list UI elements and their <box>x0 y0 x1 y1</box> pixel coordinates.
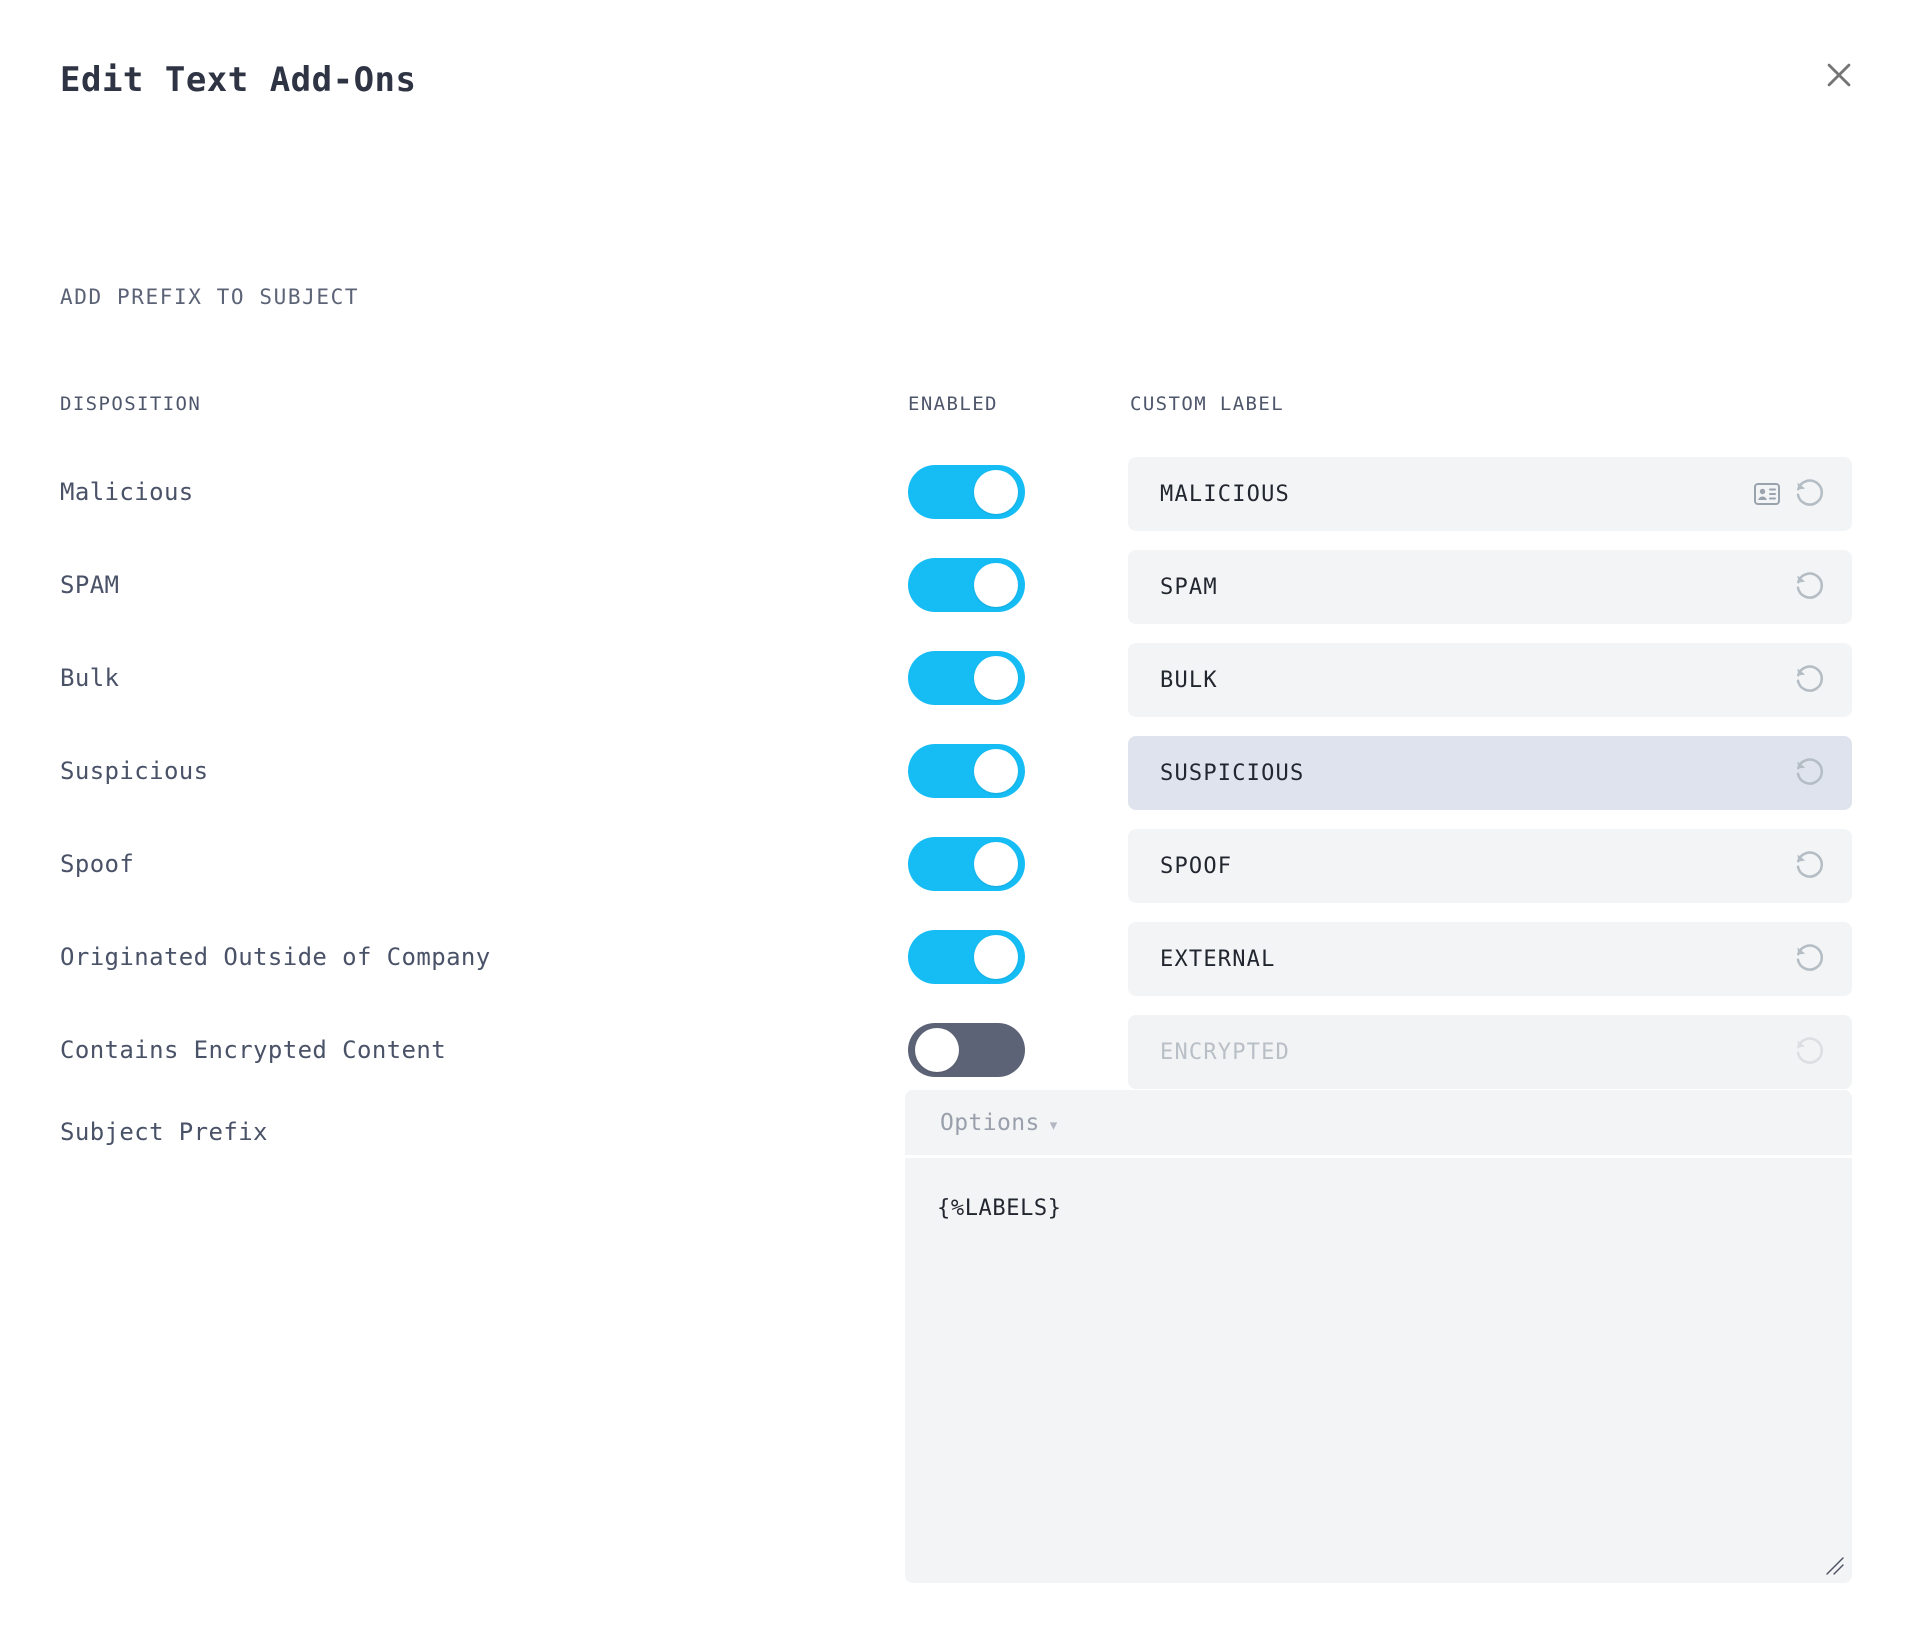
enabled-toggle[interactable] <box>908 1023 1025 1077</box>
subject-prefix-editor: Options ▾ {%LABELS} <box>905 1090 1852 1583</box>
field-actions <box>1754 478 1826 510</box>
reset-icon <box>1794 943 1826 975</box>
field-actions <box>1794 850 1826 882</box>
field-actions <box>1794 664 1826 696</box>
toggle-knob <box>974 749 1018 793</box>
reset-icon <box>1794 664 1826 696</box>
custom-label-input[interactable]: EXTERNAL <box>1128 922 1852 996</box>
reset-icon <box>1794 757 1826 789</box>
column-header-custom-label: CUSTOM LABEL <box>1130 393 1284 415</box>
reset-button <box>1794 1036 1826 1068</box>
reset-button[interactable] <box>1794 571 1826 603</box>
dialog-header: Edit Text Add-Ons <box>0 0 1908 150</box>
close-icon <box>1822 58 1856 92</box>
custom-label-value: SPAM <box>1160 575 1794 600</box>
field-actions <box>1794 1036 1826 1068</box>
enabled-toggle[interactable] <box>908 465 1025 519</box>
close-button[interactable] <box>1808 44 1870 106</box>
custom-label-value: SUSPICIOUS <box>1160 761 1794 786</box>
subject-prefix-label: Subject Prefix <box>60 1118 268 1146</box>
editor-toolbar: Options ▾ <box>905 1090 1852 1155</box>
enabled-toggle[interactable] <box>908 930 1025 984</box>
table-row: BulkBULK <box>0 638 1908 731</box>
disposition-label: Contains Encrypted Content <box>60 1036 446 1064</box>
reset-icon <box>1794 571 1826 603</box>
field-actions <box>1794 571 1826 603</box>
disposition-label: Malicious <box>60 478 194 506</box>
disposition-label: SPAM <box>60 571 119 599</box>
disposition-label: Bulk <box>60 664 119 692</box>
reset-button[interactable] <box>1794 943 1826 975</box>
custom-label-value: ENCRYPTED <box>1160 1040 1794 1065</box>
edit-text-addons-dialog: Edit Text Add-Ons ADD PREFIX TO SUBJECT … <box>0 0 1908 1650</box>
enabled-toggle[interactable] <box>908 651 1025 705</box>
column-header-disposition: DISPOSITION <box>60 393 201 415</box>
enabled-toggle[interactable] <box>908 744 1025 798</box>
custom-label-input[interactable]: SPOOF <box>1128 829 1852 903</box>
toggle-knob <box>915 1028 959 1072</box>
reset-button[interactable] <box>1794 850 1826 882</box>
disposition-rows: MaliciousMALICIOUSSPAMSPAMBulkBULKSuspic… <box>0 452 1908 1103</box>
toggle-knob <box>974 563 1018 607</box>
resize-handle-icon[interactable] <box>1824 1555 1846 1577</box>
custom-label-input[interactable]: BULK <box>1128 643 1852 717</box>
column-header-enabled: ENABLED <box>908 393 998 415</box>
table-row: SuspiciousSUSPICIOUS <box>0 731 1908 824</box>
subject-prefix-value: {%LABELS} <box>937 1196 1828 1221</box>
custom-label-input[interactable]: SPAM <box>1128 550 1852 624</box>
disposition-label: Spoof <box>60 850 134 878</box>
toggle-knob <box>974 470 1018 514</box>
reset-icon <box>1794 1036 1826 1068</box>
custom-label-value: BULK <box>1160 668 1794 693</box>
toggle-knob <box>974 935 1018 979</box>
toggle-knob <box>974 842 1018 886</box>
custom-label-input: ENCRYPTED <box>1128 1015 1852 1089</box>
custom-label-input[interactable]: MALICIOUS <box>1128 457 1852 531</box>
toggle-knob <box>974 656 1018 700</box>
options-dropdown[interactable]: Options ▾ <box>940 1110 1057 1136</box>
field-actions <box>1794 943 1826 975</box>
options-dropdown-label: Options <box>940 1110 1040 1136</box>
table-row: SpoofSPOOF <box>0 824 1908 917</box>
disposition-label: Originated Outside of Company <box>60 943 491 971</box>
section-caption: ADD PREFIX TO SUBJECT <box>60 285 359 309</box>
custom-label-value: SPOOF <box>1160 854 1794 879</box>
custom-label-input[interactable]: SUSPICIOUS <box>1128 736 1852 810</box>
reset-icon <box>1794 478 1826 510</box>
subject-prefix-textarea[interactable]: {%LABELS} <box>905 1158 1852 1583</box>
page-title: Edit Text Add-Ons <box>60 60 417 100</box>
table-row: MaliciousMALICIOUS <box>0 452 1908 545</box>
contact-card-icon <box>1754 483 1780 505</box>
chevron-down-icon: ▾ <box>1050 1118 1058 1133</box>
reset-button[interactable] <box>1794 478 1826 510</box>
reset-button[interactable] <box>1794 757 1826 789</box>
table-row: SPAMSPAM <box>0 545 1908 638</box>
reset-icon <box>1794 850 1826 882</box>
disposition-label: Suspicious <box>60 757 209 785</box>
table-row: Originated Outside of CompanyEXTERNAL <box>0 917 1908 1010</box>
field-actions <box>1794 757 1826 789</box>
enabled-toggle[interactable] <box>908 558 1025 612</box>
reset-button[interactable] <box>1794 664 1826 696</box>
custom-label-value: MALICIOUS <box>1160 482 1754 507</box>
custom-label-value: EXTERNAL <box>1160 947 1794 972</box>
enabled-toggle[interactable] <box>908 837 1025 891</box>
contact-card-icon-button[interactable] <box>1754 483 1780 505</box>
